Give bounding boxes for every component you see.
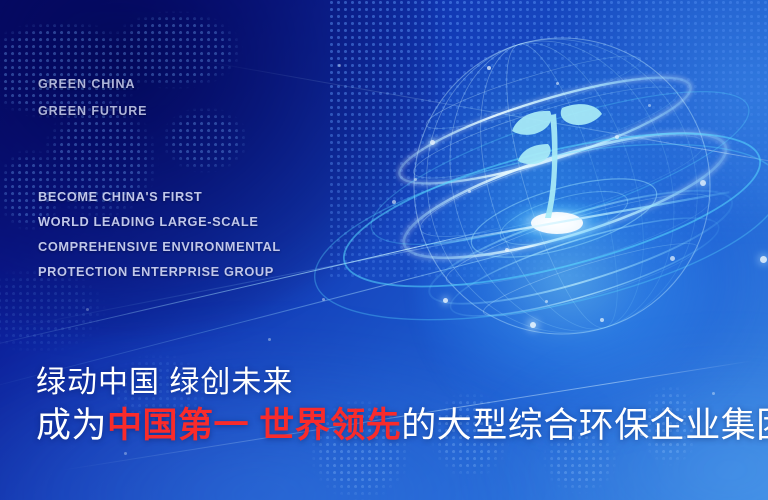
particle [556,82,559,85]
headline-line-1: 绿动中国 绿创未来 [36,363,768,403]
particle [530,322,536,328]
headline-highlight-world-leading: 世界领先 [259,406,401,445]
particle [443,298,448,303]
sprout-seedling-icon [512,104,602,218]
particle [124,452,127,455]
particle [670,256,675,261]
particle [468,190,471,193]
particle [545,300,548,303]
background-glow-top-right [540,0,768,210]
headline-highlight-gap [249,406,259,445]
subhead-text-block: BECOME CHINA'S FIRST WORLD LEADING LARGE… [38,184,281,284]
particle [615,135,619,139]
particle [700,180,706,186]
background-vignette-top-left [0,0,440,340]
subhead-line-4: PROTECTION ENTERPRISE GROUP [38,259,281,284]
particle [322,298,325,301]
subhead-line-1: BECOME CHINA'S FIRST [38,184,281,209]
eyebrow-line-2: GREEN FUTURE [38,98,147,125]
headline-prefix: 成为 [36,406,107,445]
headline-line-2: 成为中国第一 世界领先的大型综合环保企业集团 [36,403,768,449]
headline-highlight-china-first: 中国第一 [107,406,249,445]
particle [487,66,491,70]
headline-block: 绿动中国 绿创未来 成为中国第一 世界领先的大型综合环保企业集团 [36,363,768,449]
particle [648,104,651,107]
particle [268,338,271,341]
subhead-line-2: WORLD LEADING LARGE-SCALE [38,209,281,234]
headline-suffix: 的大型综合环保企业集团 [401,406,768,445]
particle [600,318,604,322]
subhead-line-3: COMPREHENSIVE ENVIRONMENTAL [38,234,281,259]
eyebrow-line-1: GREEN CHINA [38,71,147,98]
particle [760,256,767,263]
hero-banner: GREEN CHINA GREEN FUTURE BECOME CHINA'S … [0,0,768,500]
particle [414,178,417,181]
eyebrow-text-block: GREEN CHINA GREEN FUTURE [38,71,147,125]
particle [505,248,509,252]
particle [430,140,435,145]
